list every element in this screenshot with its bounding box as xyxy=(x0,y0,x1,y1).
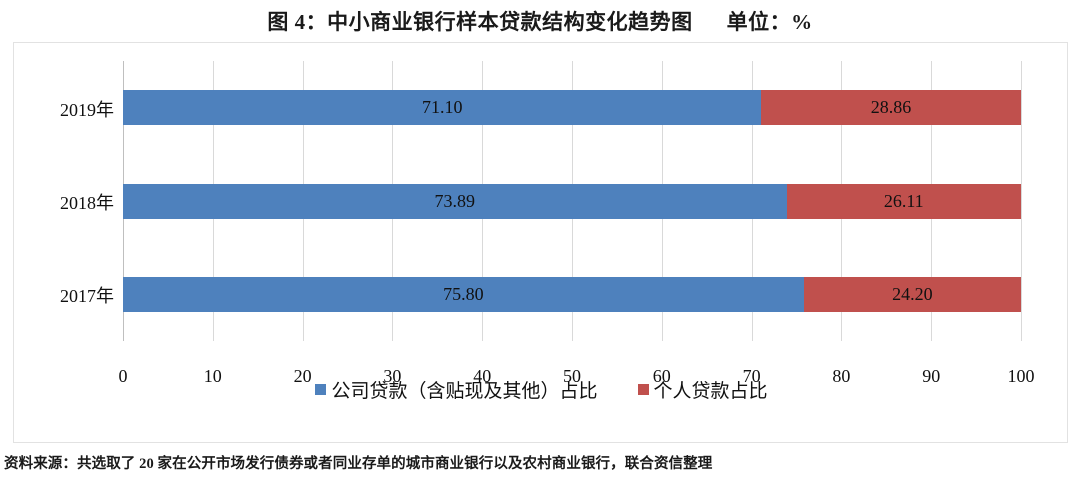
chart-legend: 公司贷款（含贴现及其他）占比个人贷款占比 xyxy=(14,376,1069,403)
category-label: 2019年 xyxy=(14,96,114,122)
legend-swatch-icon xyxy=(638,384,649,395)
legend-label: 公司贷款（含贴现及其他）占比 xyxy=(331,376,597,403)
bar-segment-series2[interactable]: 26.11 xyxy=(787,184,1021,219)
category-axis: 2019年2018年2017年 xyxy=(14,61,114,341)
bar-row: 73.8926.11 xyxy=(123,184,1021,219)
chart-title-main: 图 4：中小商业银行样本贷款结构变化趋势图 xyxy=(267,10,692,34)
legend-item-series2[interactable]: 个人贷款占比 xyxy=(638,376,768,403)
bar-value-label: 26.11 xyxy=(884,191,924,212)
plot-area: 010203040506070809010071.1028.8673.8926.… xyxy=(123,61,1021,341)
bar-value-label: 24.20 xyxy=(892,284,933,305)
legend-swatch-icon xyxy=(315,384,326,395)
chart-frame: 2019年2018年2017年 010203040506070809010071… xyxy=(13,42,1068,443)
chart-title: 图 4：中小商业银行样本贷款结构变化趋势图单位：% xyxy=(0,6,1080,36)
chart-title-unit: 单位：% xyxy=(727,10,813,34)
bar-value-label: 28.86 xyxy=(871,97,912,118)
bar-row: 71.1028.86 xyxy=(123,90,1021,125)
bar-value-label: 75.80 xyxy=(443,284,484,305)
bar-segment-series1[interactable]: 75.80 xyxy=(123,277,804,312)
legend-item-series1[interactable]: 公司贷款（含贴现及其他）占比 xyxy=(315,376,597,403)
bar-row: 75.8024.20 xyxy=(123,277,1021,312)
bar-segment-series2[interactable]: 24.20 xyxy=(804,277,1021,312)
legend-label: 个人贷款占比 xyxy=(654,376,768,403)
source-note: 资料来源：共选取了 20 家在公开市场发行债券或者同业存单的城市商业银行以及农村… xyxy=(4,452,712,473)
gridline-100 xyxy=(1021,61,1022,341)
bar-value-label: 73.89 xyxy=(435,191,476,212)
category-label: 2018年 xyxy=(14,189,114,215)
bar-value-label: 71.10 xyxy=(422,97,463,118)
bar-segment-series1[interactable]: 71.10 xyxy=(123,90,761,125)
bar-segment-series1[interactable]: 73.89 xyxy=(123,184,787,219)
category-label: 2017年 xyxy=(14,282,114,308)
bar-segment-series2[interactable]: 28.86 xyxy=(761,90,1020,125)
